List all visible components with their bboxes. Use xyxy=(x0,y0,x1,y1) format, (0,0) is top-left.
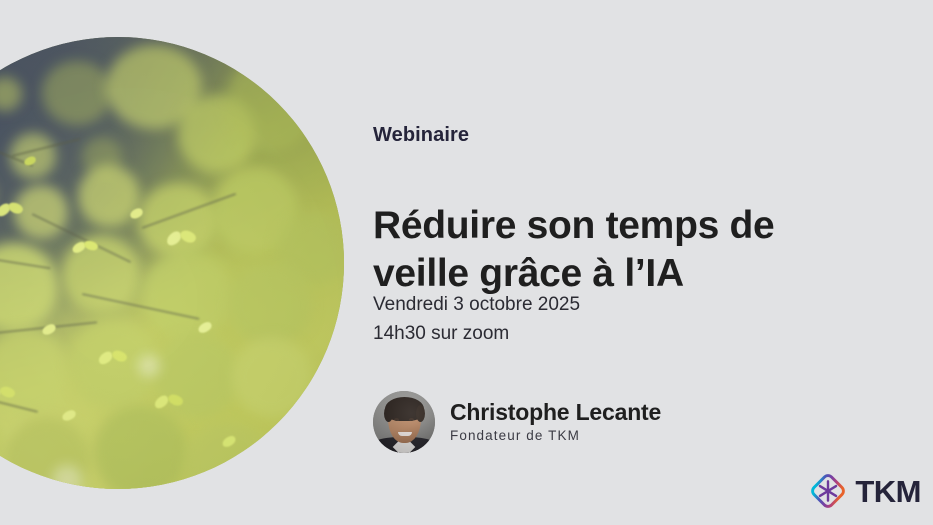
webinar-promo-slide: Webinaire Réduire son temps de veille gr… xyxy=(0,0,933,525)
hero-photo-art xyxy=(0,37,344,489)
tkm-diamond-star-icon xyxy=(806,469,850,513)
speaker-role: Fondateur de TKM xyxy=(450,426,661,446)
event-time: 14h30 sur zoom xyxy=(373,319,580,348)
event-schedule: Vendredi 3 octobre 2025 14h30 sur zoom xyxy=(373,290,580,348)
eyebrow-label: Webinaire xyxy=(373,124,469,147)
avatar-shading xyxy=(373,391,435,453)
tkm-logo: TKM xyxy=(806,469,921,513)
title-line-1: Réduire son temps de xyxy=(373,204,774,247)
speaker-text: Christophe Lecante Fondateur de TKM xyxy=(450,399,661,446)
event-date: Vendredi 3 octobre 2025 xyxy=(373,290,580,319)
tkm-wordmark: TKM xyxy=(855,476,921,507)
content-column: Webinaire Réduire son temps de veille gr… xyxy=(373,0,933,525)
hero-image-circle xyxy=(0,37,344,489)
avatar xyxy=(373,391,435,453)
speaker-name: Christophe Lecante xyxy=(450,399,661,425)
hero-vignette xyxy=(0,37,344,489)
page-title: Réduire son temps de veille grâce à l’IA xyxy=(373,202,843,298)
speaker-block: Christophe Lecante Fondateur de TKM xyxy=(373,391,661,453)
